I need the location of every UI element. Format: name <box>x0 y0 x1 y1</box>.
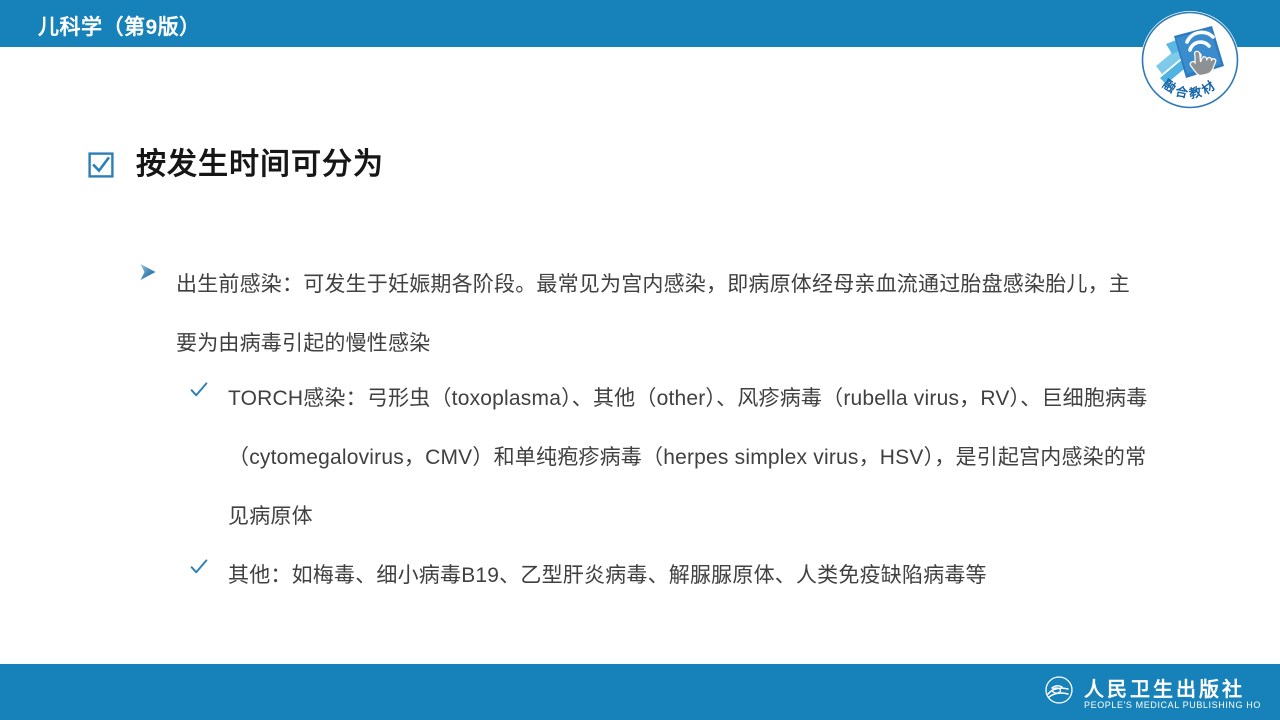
section-heading-label: 按发生时间可分为 <box>136 150 384 180</box>
publisher-name-en: PEOPLE'S MEDICAL PUBLISHING HOUSE <box>1084 700 1260 710</box>
arrow-right-icon <box>138 262 158 282</box>
slide-content: 按发生时间可分为 出生前感染：可发生于妊娠期各阶段。最常见为宫内感染，即病原体经… <box>0 47 1280 664</box>
bullet-level2-group: TORCH感染：弓形虫（toxoplasma）、其他（other）、风疹病毒（r… <box>190 369 1150 605</box>
section-heading: 按发生时间可分为 <box>88 150 384 180</box>
publisher-logo-icon: 人民卫生出版社 PEOPLE'S MEDICAL PUBLISHING HOUS… <box>1040 676 1260 712</box>
bullet-level2-text: 其他：如梅毒、细小病毒B19、乙型肝炎病毒、解脲脲原体、人类免疫缺陷病毒等 <box>228 546 1150 605</box>
bullet-level1-text: 出生前感染：可发生于妊娠期各阶段。最常见为宫内感染，即病原体经母亲血流通过胎盘感… <box>176 255 1148 373</box>
publisher-logo: 人民卫生出版社 PEOPLE'S MEDICAL PUBLISHING HOUS… <box>1040 676 1260 712</box>
page-title: 儿科学（第9版） <box>38 11 201 41</box>
publisher-name-cn: 人民卫生出版社 <box>1084 677 1245 701</box>
check-icon <box>190 381 208 399</box>
bullet-level1: 出生前感染：可发生于妊娠期各阶段。最常见为宫内感染，即病原体经母亲血流通过胎盘感… <box>138 255 1148 373</box>
checkbox-checked-icon <box>88 152 114 178</box>
check-icon <box>190 558 208 576</box>
bullet-level2: 其他：如梅毒、细小病毒B19、乙型肝炎病毒、解脲脲原体、人类免疫缺陷病毒等 <box>190 546 1150 605</box>
bullet-level2-text: TORCH感染：弓形虫（toxoplasma）、其他（other）、风疹病毒（r… <box>228 369 1150 546</box>
bullet-level2: TORCH感染：弓形虫（toxoplasma）、其他（other）、风疹病毒（r… <box>190 369 1150 546</box>
slide-canvas: 儿科学（第9版） <box>0 0 1280 720</box>
